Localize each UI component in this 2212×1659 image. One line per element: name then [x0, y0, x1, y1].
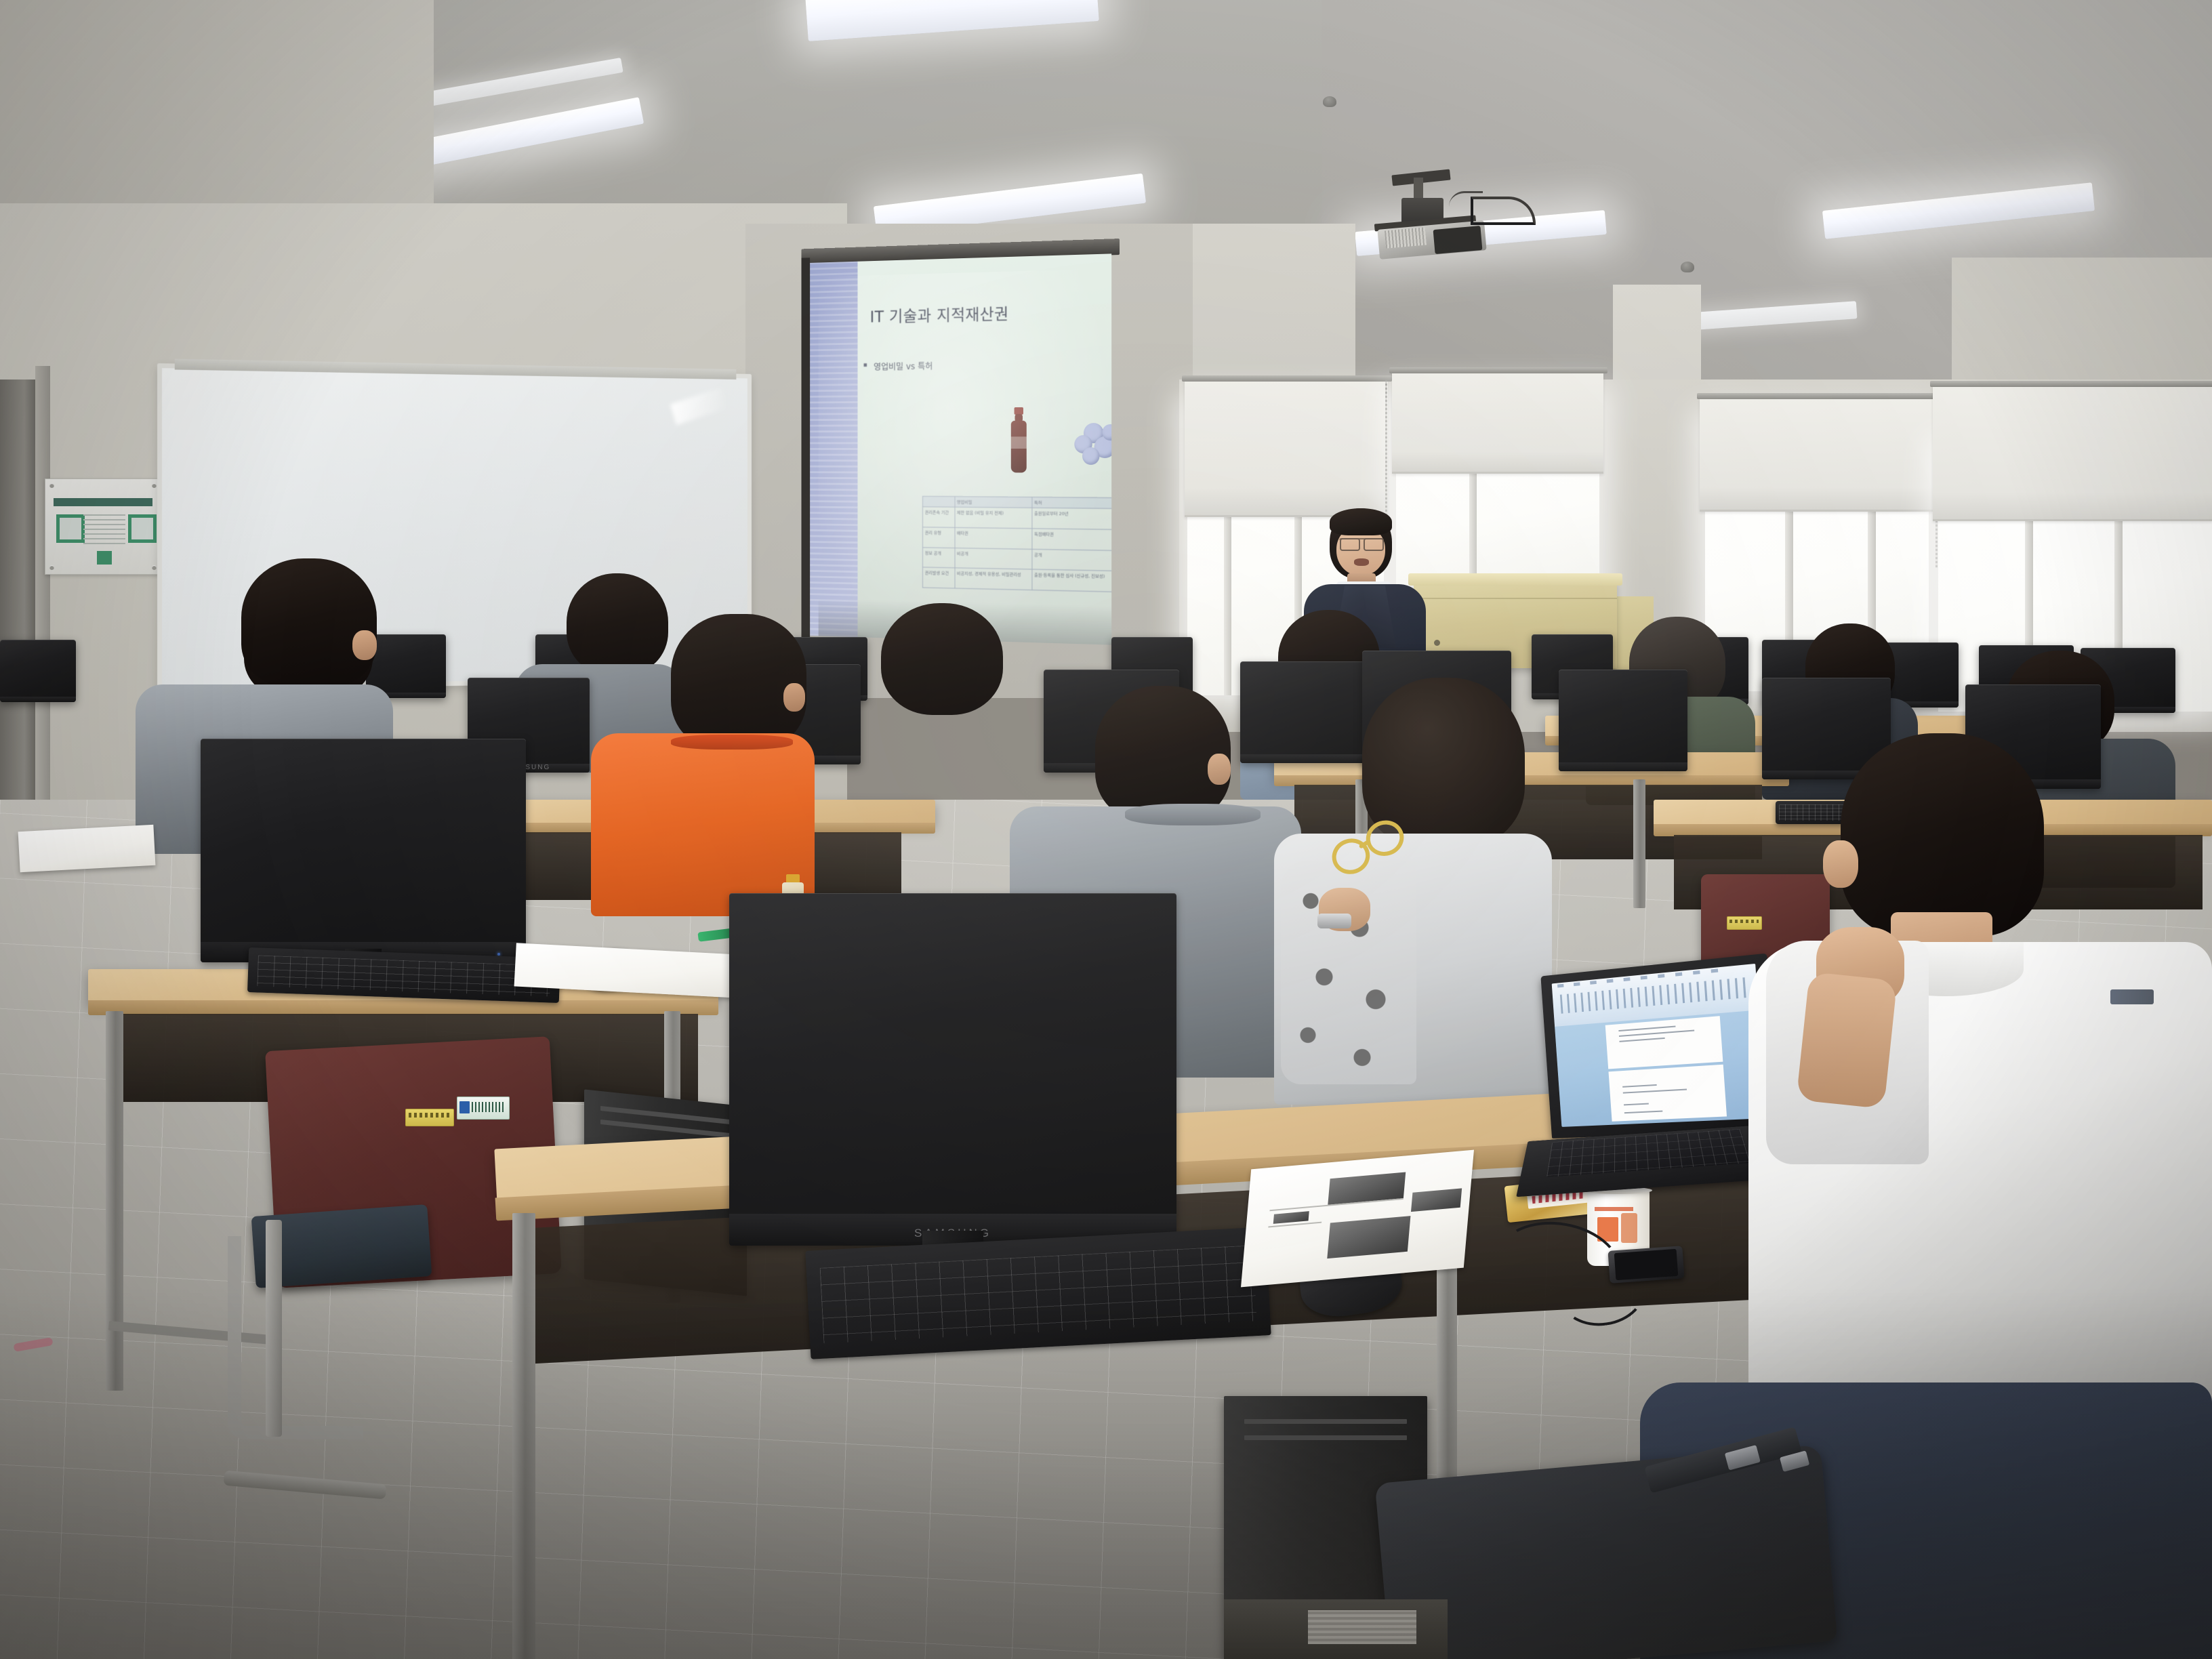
- window-blind-b[interactable]: [1392, 371, 1603, 474]
- laptop-lid: [1540, 954, 1779, 1139]
- classroom-photo: IT 기술과 지적재산권 영업비밀 vs 특허 영업비밀: [0, 0, 2212, 1659]
- slide-bullet-text: 영업비밀 vs 특허: [874, 359, 933, 373]
- sprinkler-head-2: [1681, 262, 1694, 272]
- student-center-collar: [1125, 804, 1261, 825]
- student-white-polo-forearm: [1796, 972, 1897, 1109]
- monitor-mid-4[interactable]: [1240, 661, 1376, 763]
- window-blind-c[interactable]: [1700, 398, 1933, 512]
- laptop-screen[interactable]: [1552, 963, 1766, 1126]
- slide-th-1: 영업비밀: [955, 497, 1032, 508]
- slide-molecule-image: [1074, 423, 1111, 465]
- desk-leg-mid-right-2: [1633, 779, 1645, 908]
- student-orange-polo-collar: [671, 735, 793, 750]
- slide-bullet-label: 영업비밀 vs 특허: [874, 362, 933, 373]
- plaque-title-bar: [54, 498, 152, 506]
- monitor-left-front[interactable]: SAMSUNG: [201, 739, 526, 962]
- slide-cell: 출원·등록을 통한 심사 (신규성, 진보성): [1032, 569, 1112, 592]
- slide-table-row: 권리발생 요건 비공지성, 경제적 유용성, 비밀관리성 출원·등록을 통한 심…: [922, 567, 1111, 592]
- slide-surface: IT 기술과 지적재산권 영업비밀 vs 특허 영업비밀: [810, 253, 1111, 644]
- monitor-power-led: [497, 953, 500, 956]
- projector: [1349, 178, 1504, 259]
- whiteboard-glare: [670, 388, 727, 426]
- projection-screen: IT 기술과 지적재산권 영업비밀 vs 특허 영업비밀: [802, 239, 1120, 659]
- slide-th-0: [922, 496, 954, 507]
- student-center-ear: [1208, 754, 1231, 785]
- slide-cell: 출원일로부터 20년: [1032, 508, 1112, 529]
- plaque-emblem-right: [128, 514, 157, 543]
- slide-title: IT 기술과 지적재산권: [870, 301, 1009, 327]
- monitor-backleft-1[interactable]: [0, 640, 76, 702]
- laptop-document-page-1: [1605, 1016, 1723, 1069]
- student-white-polo-ear: [1823, 840, 1858, 888]
- slide-cell: 독점배타권: [1032, 529, 1112, 550]
- student-orange-polo-head: [671, 614, 806, 750]
- plaque-text-lines: [83, 514, 125, 546]
- slide-cell: 권리 유형: [922, 527, 954, 548]
- student-white-polo-head: [1841, 733, 2044, 937]
- paper-left-front: [18, 825, 156, 872]
- student-back-2-head: [567, 573, 668, 675]
- slide-th-2: 특허: [1032, 497, 1112, 509]
- student-front-left-head: [241, 558, 377, 687]
- slide-cell: 권리존속 기간: [922, 507, 954, 527]
- chair-asset-tag-green: [457, 1097, 510, 1120]
- slide-table-row: 권리 유형 배타권 독점배타권: [922, 527, 1111, 550]
- slide-cell: 배타권: [955, 527, 1032, 549]
- slide-cell: 정보 공개: [922, 547, 954, 568]
- instructor-glasses-lens-r: [1364, 538, 1384, 551]
- instructor-mouth: [1354, 558, 1369, 566]
- slide-cell: 비공개: [955, 548, 1032, 569]
- slide-cell: 공개: [1032, 549, 1112, 571]
- projector-cable-2: [1449, 191, 1483, 207]
- screen-left-edge: [802, 258, 811, 644]
- student-white-polo-logo: [2110, 989, 2154, 1004]
- student-back-3-head: [881, 603, 1003, 715]
- blind-rail-d: [1930, 381, 2212, 387]
- slide-sidebar-decoration: [810, 262, 857, 637]
- door-frame: [35, 366, 50, 861]
- sprinkler-head-1: [1323, 96, 1336, 107]
- slide-cell: 비공지성, 경제적 유용성, 비밀관리성: [955, 568, 1032, 590]
- desk-edge-left-front: [88, 1000, 718, 1015]
- student-orange-polo-ear: [783, 683, 805, 712]
- slide-cell: 권리발생 요건: [922, 567, 954, 588]
- window-blind-a[interactable]: [1185, 380, 1388, 517]
- student-center-head: [1095, 686, 1231, 821]
- instructor-hair-front: [1330, 508, 1392, 535]
- wall-plaque: [45, 478, 161, 575]
- student-leopard-watch: [1317, 914, 1351, 928]
- laptop-document-page-2: [1608, 1065, 1727, 1122]
- classroom-door[interactable]: [0, 380, 41, 854]
- student-front-left-ear: [352, 630, 377, 660]
- monitor-foreground[interactable]: SAMSUNG: [729, 893, 1176, 1246]
- paper-handout: [1241, 1150, 1474, 1288]
- handout-image-3: [1328, 1216, 1411, 1259]
- slide-cola-bottle-image: [1010, 407, 1027, 473]
- slide-comparison-table: 영업비밀 특허 권리존속 기간 제한 없음 (비밀 유지 전제) 출원일로부터 …: [922, 496, 1111, 592]
- plaque-seal: [97, 551, 112, 565]
- monitor-mid-6[interactable]: [1559, 670, 1687, 771]
- slide-cell: 제한 없음 (비밀 유지 전제): [955, 507, 1032, 528]
- floor-vignette: [0, 1288, 2212, 1659]
- handout-image-2: [1411, 1188, 1462, 1211]
- slide-bullet-marker: [864, 363, 867, 367]
- handout-image-4: [1273, 1211, 1309, 1224]
- slide-table-row: 권리존속 기간 제한 없음 (비밀 유지 전제) 출원일로부터 20년: [922, 507, 1111, 529]
- chair-asset-tag-yellow: [405, 1109, 454, 1126]
- window-blind-d[interactable]: [1933, 386, 2212, 521]
- blind-rail-c: [1697, 393, 1937, 399]
- instructor-glasses-lens-l: [1340, 538, 1360, 551]
- plaque-emblem-left: [56, 514, 85, 543]
- chair-far-right-tag: [1727, 916, 1762, 930]
- blind-rail-b: [1389, 367, 1607, 373]
- blind-rail-a: [1182, 375, 1392, 382]
